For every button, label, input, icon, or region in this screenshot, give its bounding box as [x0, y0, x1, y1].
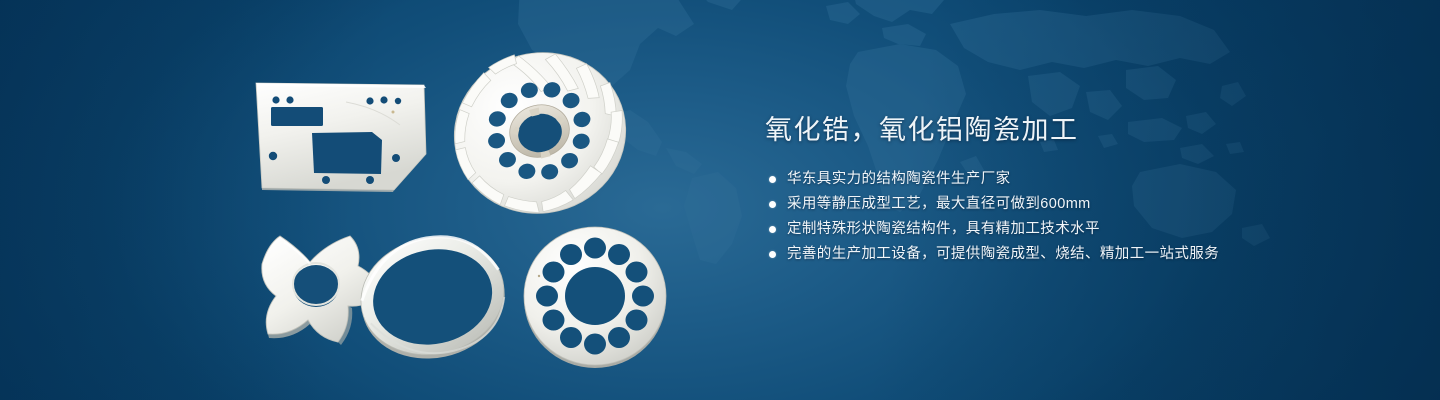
promo-banner: 氧化锆，氧化铝陶瓷加工 华东具实力的结构陶瓷件生产厂家 采用等静压成型工艺，最大… — [0, 0, 1440, 400]
bullet-text: 华东具实力的结构陶瓷件生产厂家 — [787, 167, 1011, 191]
bullet-text: 采用等静压成型工艺，最大直径可做到600mm — [787, 192, 1091, 216]
ceramic-plate-with-cutouts — [250, 78, 430, 196]
list-item: 采用等静压成型工艺，最大直径可做到600mm — [765, 192, 1385, 216]
bullet-text: 完善的生产加工设备，可提供陶瓷成型、烧结、精加工一站式服务 — [787, 242, 1219, 266]
product-photo-cluster — [0, 0, 720, 400]
list-item: 完善的生产加工设备，可提供陶瓷成型、烧结、精加工一站式服务 — [765, 242, 1385, 266]
bullet-text: 定制特殊形状陶瓷结构件，具有精加工技术水平 — [787, 217, 1100, 241]
banner-copy: 氧化锆，氧化铝陶瓷加工 华东具实力的结构陶瓷件生产厂家 采用等静压成型工艺，最大… — [765, 112, 1385, 267]
bullet-dot-icon — [769, 226, 776, 233]
feature-bullet-list: 华东具实力的结构陶瓷件生产厂家 采用等静压成型工艺，最大直径可做到600mm 定… — [765, 167, 1385, 266]
bullet-dot-icon — [769, 176, 776, 183]
list-item: 华东具实力的结构陶瓷件生产厂家 — [765, 167, 1385, 191]
banner-headline: 氧化锆，氧化铝陶瓷加工 — [765, 112, 1385, 148]
list-item: 定制特殊形状陶瓷结构件，具有精加工技术水平 — [765, 217, 1385, 241]
ceramic-perforated-disc — [518, 222, 673, 372]
bullet-dot-icon — [769, 201, 776, 208]
ceramic-ring — [352, 224, 512, 364]
ceramic-bladed-impeller — [445, 48, 635, 223]
bullet-dot-icon — [769, 251, 776, 258]
